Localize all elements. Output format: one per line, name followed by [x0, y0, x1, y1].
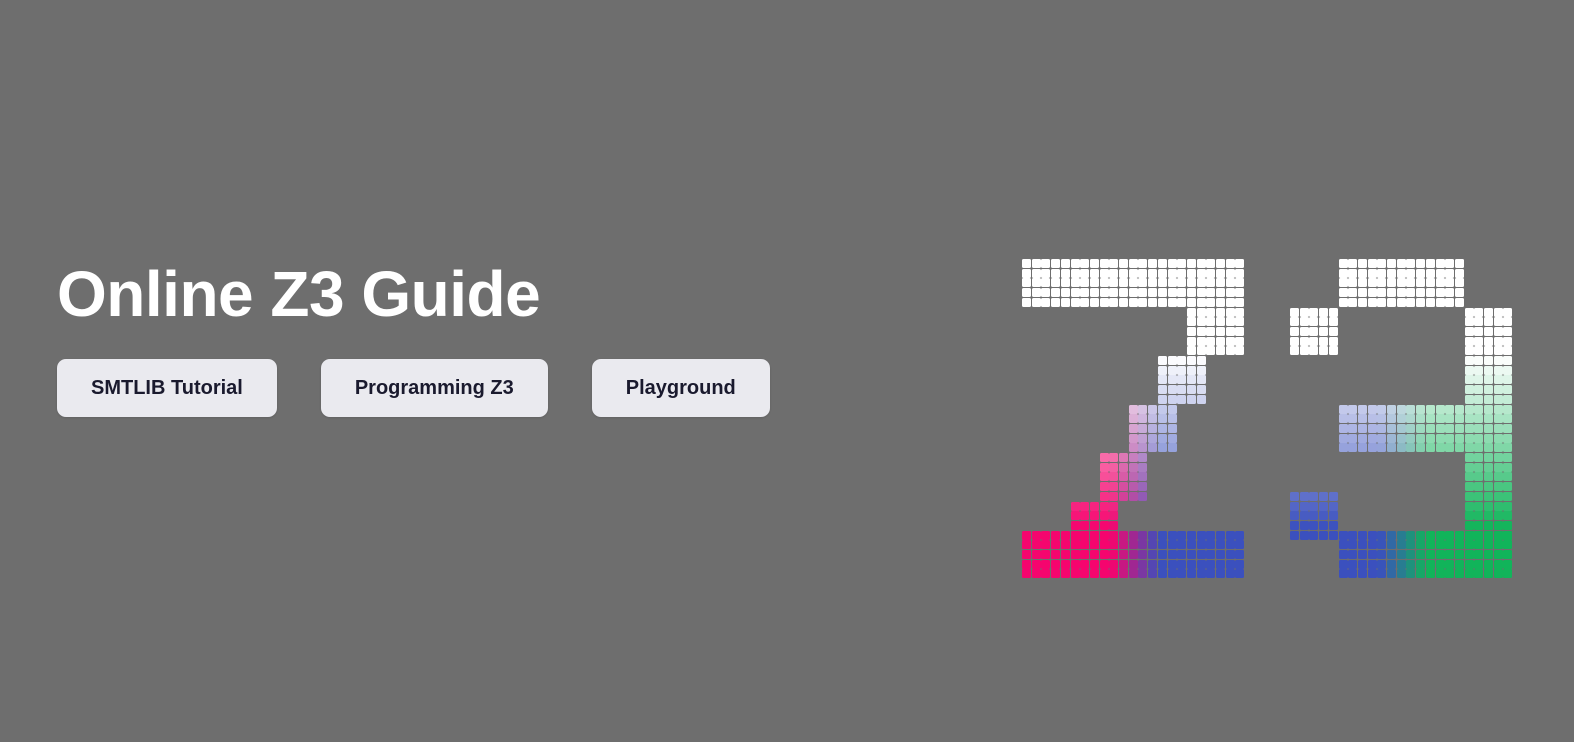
logo-pixel [1187, 278, 1196, 287]
logo-pixel [1416, 424, 1425, 433]
logo-pixel [1119, 560, 1128, 569]
logo-pixel [1455, 259, 1464, 268]
logo-pixel [1158, 569, 1167, 578]
logo-pixel [1484, 482, 1493, 491]
logo-pixel [1387, 259, 1396, 268]
logo-pixel [1309, 346, 1318, 355]
logo-pixel [1406, 531, 1415, 540]
logo-pixel [1216, 269, 1225, 278]
logo-pixel [1109, 259, 1118, 268]
logo-pixel [1290, 492, 1299, 501]
logo-pixel [1071, 521, 1080, 530]
logo-pixel [1290, 337, 1299, 346]
logo-pixel [1187, 308, 1196, 317]
logo-pixel [1465, 356, 1474, 365]
logo-pixel [1187, 259, 1196, 268]
logo-pixel [1080, 569, 1089, 578]
logo-pixel [1168, 375, 1177, 384]
logo-pixel [1484, 521, 1493, 530]
logo-pixel [1494, 424, 1503, 433]
logo-pixel [1168, 356, 1177, 365]
logo-pixel [1436, 550, 1445, 559]
logo-pixel [1494, 366, 1503, 375]
glyph-3-icon [1290, 259, 1514, 584]
logo-pixel [1339, 259, 1348, 268]
logo-pixel [1235, 346, 1244, 355]
logo-pixel [1377, 424, 1386, 433]
logo-pixel [1348, 424, 1357, 433]
logo-pixel [1465, 463, 1474, 472]
logo-pixel [1129, 482, 1138, 491]
logo-pixel [1503, 434, 1512, 443]
logo-pixel [1100, 569, 1109, 578]
logo-pixel [1109, 540, 1118, 549]
logo-pixel [1416, 405, 1425, 414]
logo-pixel [1474, 424, 1483, 433]
logo-pixel [1397, 560, 1406, 569]
logo-pixel [1206, 327, 1215, 336]
logo-pixel [1197, 259, 1206, 268]
logo-pixel [1339, 443, 1348, 452]
logo-pixel [1168, 269, 1177, 278]
logo-pixel [1368, 434, 1377, 443]
logo-pixel [1197, 395, 1206, 404]
logo-pixel [1177, 560, 1186, 569]
logo-pixel [1368, 569, 1377, 578]
logo-pixel [1436, 540, 1445, 549]
logo-pixel [1377, 288, 1386, 297]
logo-pixel [1309, 492, 1318, 501]
logo-pixel [1339, 434, 1348, 443]
logo-pixel [1397, 550, 1406, 559]
logo-pixel [1348, 569, 1357, 578]
logo-pixel [1503, 424, 1512, 433]
logo-pixel [1406, 278, 1415, 287]
logo-pixel [1226, 269, 1235, 278]
logo-pixel [1474, 453, 1483, 462]
logo-pixel [1197, 308, 1206, 317]
logo-pixel [1358, 288, 1367, 297]
logo-pixel [1061, 259, 1070, 268]
logo-pixel [1119, 288, 1128, 297]
logo-pixel [1080, 560, 1089, 569]
logo-pixel [1339, 405, 1348, 414]
logo-pixel [1138, 278, 1147, 287]
logo-pixel [1436, 531, 1445, 540]
logo-pixel [1022, 269, 1031, 278]
logo-pixel [1080, 531, 1089, 540]
logo-pixel [1138, 569, 1147, 578]
logo-pixel [1071, 540, 1080, 549]
logo-pixel [1426, 531, 1435, 540]
logo-pixel [1465, 395, 1474, 404]
logo-pixel [1339, 288, 1348, 297]
logo-pixel [1484, 453, 1493, 462]
logo-pixel [1226, 288, 1235, 297]
logo-pixel [1426, 550, 1435, 559]
logo-pixel [1197, 317, 1206, 326]
logo-pixel [1177, 269, 1186, 278]
logo-pixel [1377, 569, 1386, 578]
logo-pixel [1061, 569, 1070, 578]
logo-pixel [1339, 560, 1348, 569]
logo-pixel [1406, 414, 1415, 423]
logo-pixel [1061, 288, 1070, 297]
logo-pixel [1484, 502, 1493, 511]
logo-pixel [1168, 288, 1177, 297]
logo-pixel [1445, 414, 1454, 423]
logo-pixel [1445, 569, 1454, 578]
logo-pixel [1119, 492, 1128, 501]
logo-pixel [1426, 259, 1435, 268]
logo-pixel [1129, 560, 1138, 569]
logo-pixel [1129, 434, 1138, 443]
logo-pixel [1158, 434, 1167, 443]
logo-pixel [1406, 434, 1415, 443]
logo-pixel [1426, 443, 1435, 452]
logo-pixel [1465, 502, 1474, 511]
logo-pixel [1022, 540, 1031, 549]
logo-pixel [1177, 540, 1186, 549]
logo-pixel [1465, 560, 1474, 569]
logo-pixel [1368, 424, 1377, 433]
logo-pixel [1071, 511, 1080, 520]
logo-pixel [1455, 424, 1464, 433]
logo-pixel [1100, 463, 1109, 472]
logo-pixel [1187, 317, 1196, 326]
logo-pixel [1071, 288, 1080, 297]
logo-pixel [1368, 531, 1377, 540]
logo-pixel [1484, 375, 1493, 384]
logo-pixel [1387, 288, 1396, 297]
logo-pixel [1235, 308, 1244, 317]
logo-pixel [1455, 531, 1464, 540]
logo-pixel [1484, 540, 1493, 549]
logo-pixel [1348, 540, 1357, 549]
logo-pixel [1206, 337, 1215, 346]
logo-pixel [1465, 366, 1474, 375]
logo-pixel [1474, 521, 1483, 530]
logo-pixel [1416, 540, 1425, 549]
logo-pixel [1474, 492, 1483, 501]
logo-pixel [1109, 278, 1118, 287]
logo-pixel [1329, 502, 1338, 511]
logo-pixel [1503, 356, 1512, 365]
logo-pixel [1051, 550, 1060, 559]
logo-pixel [1158, 414, 1167, 423]
logo-pixel [1226, 317, 1235, 326]
logo-pixel [1348, 434, 1357, 443]
logo-pixel [1503, 443, 1512, 452]
logo-pixel [1300, 317, 1309, 326]
logo-pixel [1032, 560, 1041, 569]
logo-pixel [1032, 550, 1041, 559]
logo-pixel [1032, 531, 1041, 540]
logo-pixel [1100, 288, 1109, 297]
logo-pixel [1177, 298, 1186, 307]
logo-pixel [1148, 531, 1157, 540]
logo-pixel [1206, 550, 1215, 559]
logo-pixel [1216, 569, 1225, 578]
logo-pixel [1235, 531, 1244, 540]
logo-pixel [1138, 414, 1147, 423]
logo-pixel [1129, 278, 1138, 287]
logo-pixel [1187, 569, 1196, 578]
logo-pixel [1090, 531, 1099, 540]
logo-pixel [1168, 366, 1177, 375]
logo-pixel [1090, 259, 1099, 268]
logo-pixel [1358, 560, 1367, 569]
logo-pixel [1216, 550, 1225, 559]
logo-pixel [1329, 308, 1338, 317]
logo-pixel [1319, 327, 1328, 336]
logo-pixel [1319, 502, 1328, 511]
logo-pixel [1290, 502, 1299, 511]
logo-pixel [1206, 298, 1215, 307]
logo-pixel [1216, 327, 1225, 336]
logo-pixel [1129, 472, 1138, 481]
logo-pixel [1358, 259, 1367, 268]
logo-pixel [1465, 482, 1474, 491]
logo-pixel [1206, 560, 1215, 569]
logo-pixel [1387, 278, 1396, 287]
logo-pixel [1503, 521, 1512, 530]
smtlib-tutorial-button[interactable]: SMTLIB Tutorial [57, 359, 277, 417]
logo-pixel [1416, 560, 1425, 569]
logo-pixel [1474, 385, 1483, 394]
logo-pixel [1387, 569, 1396, 578]
logo-pixel [1494, 511, 1503, 520]
logo-pixel [1022, 550, 1031, 559]
logo-pixel [1358, 269, 1367, 278]
logo-pixel [1168, 385, 1177, 394]
logo-pixel [1148, 405, 1157, 414]
logo-pixel [1197, 560, 1206, 569]
logo-pixel [1290, 308, 1299, 317]
logo-pixel [1329, 492, 1338, 501]
logo-pixel [1377, 550, 1386, 559]
logo-pixel [1358, 405, 1367, 414]
logo-pixel [1080, 269, 1089, 278]
logo-pixel [1109, 269, 1118, 278]
logo-pixel [1119, 269, 1128, 278]
logo-pixel [1436, 298, 1445, 307]
logo-pixel [1051, 569, 1060, 578]
logo-pixel [1100, 560, 1109, 569]
logo-pixel [1397, 259, 1406, 268]
logo-pixel [1300, 308, 1309, 317]
logo-pixel [1348, 298, 1357, 307]
page-title: Online Z3 Guide [57, 258, 957, 332]
logo-pixel [1187, 298, 1196, 307]
logo-pixel [1177, 375, 1186, 384]
nav-button-group: SMTLIB Tutorial Programming Z3 Playgroun… [57, 359, 957, 417]
logo-pixel [1329, 346, 1338, 355]
logo-pixel [1494, 569, 1503, 578]
logo-pixel [1484, 337, 1493, 346]
logo-pixel [1484, 569, 1493, 578]
logo-pixel [1494, 395, 1503, 404]
logo-pixel [1503, 540, 1512, 549]
logo-pixel [1465, 434, 1474, 443]
logo-pixel [1426, 298, 1435, 307]
logo-pixel [1129, 288, 1138, 297]
logo-pixel [1290, 511, 1299, 520]
logo-pixel [1216, 531, 1225, 540]
logo-pixel [1484, 346, 1493, 355]
logo-pixel [1129, 569, 1138, 578]
logo-pixel [1397, 569, 1406, 578]
programming-z3-button[interactable]: Programming Z3 [321, 359, 548, 417]
logo-pixel [1484, 443, 1493, 452]
logo-pixel [1503, 414, 1512, 423]
logo-pixel [1387, 424, 1396, 433]
logo-pixel [1226, 550, 1235, 559]
logo-pixel [1329, 327, 1338, 336]
logo-pixel [1436, 424, 1445, 433]
logo-pixel [1051, 278, 1060, 287]
logo-pixel [1235, 269, 1244, 278]
logo-pixel [1484, 317, 1493, 326]
logo-pixel [1061, 278, 1070, 287]
logo-pixel [1368, 259, 1377, 268]
logo-pixel [1484, 327, 1493, 336]
logo-pixel [1368, 405, 1377, 414]
logo-pixel [1465, 521, 1474, 530]
logo-pixel [1494, 443, 1503, 452]
logo-pixel [1032, 288, 1041, 297]
logo-pixel [1455, 414, 1464, 423]
logo-pixel [1387, 434, 1396, 443]
logo-pixel [1494, 540, 1503, 549]
logo-pixel [1168, 405, 1177, 414]
logo-pixel [1348, 405, 1357, 414]
logo-pixel [1100, 269, 1109, 278]
logo-pixel [1041, 531, 1050, 540]
logo-pixel [1100, 259, 1109, 268]
logo-pixel [1187, 375, 1196, 384]
logo-pixel [1416, 298, 1425, 307]
logo-pixel [1358, 434, 1367, 443]
logo-pixel [1100, 502, 1109, 511]
logo-pixel [1119, 472, 1128, 481]
logo-pixel [1187, 356, 1196, 365]
logo-pixel [1319, 346, 1328, 355]
logo-pixel [1494, 550, 1503, 559]
logo-pixel [1387, 550, 1396, 559]
logo-pixel [1484, 366, 1493, 375]
logo-pixel [1358, 443, 1367, 452]
logo-pixel [1494, 463, 1503, 472]
logo-pixel [1377, 278, 1386, 287]
logo-pixel [1216, 540, 1225, 549]
logo-pixel [1465, 492, 1474, 501]
logo-pixel [1309, 317, 1318, 326]
logo-pixel [1109, 288, 1118, 297]
logo-pixel [1348, 560, 1357, 569]
logo-pixel [1377, 531, 1386, 540]
logo-pixel [1100, 278, 1109, 287]
logo-pixel [1290, 327, 1299, 336]
logo-pixel [1465, 531, 1474, 540]
logo-pixel [1109, 472, 1118, 481]
logo-pixel [1226, 308, 1235, 317]
logo-pixel [1503, 317, 1512, 326]
logo-pixel [1187, 346, 1196, 355]
logo-pixel [1041, 569, 1050, 578]
logo-pixel [1387, 443, 1396, 452]
logo-pixel [1177, 395, 1186, 404]
logo-pixel [1300, 521, 1309, 530]
logo-pixel [1436, 278, 1445, 287]
logo-pixel [1032, 259, 1041, 268]
logo-pixel [1138, 472, 1147, 481]
logo-pixel [1158, 405, 1167, 414]
logo-pixel [1187, 531, 1196, 540]
logo-pixel [1129, 492, 1138, 501]
logo-pixel [1503, 569, 1512, 578]
logo-pixel [1494, 492, 1503, 501]
logo-pixel [1187, 288, 1196, 297]
logo-pixel [1129, 550, 1138, 559]
logo-pixel [1494, 453, 1503, 462]
logo-pixel [1474, 463, 1483, 472]
logo-pixel [1187, 269, 1196, 278]
logo-pixel [1235, 288, 1244, 297]
logo-pixel [1494, 356, 1503, 365]
logo-pixel [1158, 366, 1167, 375]
logo-pixel [1368, 278, 1377, 287]
logo-pixel [1474, 327, 1483, 336]
logo-pixel [1168, 443, 1177, 452]
logo-pixel [1300, 337, 1309, 346]
logo-pixel [1358, 540, 1367, 549]
logo-pixel [1474, 346, 1483, 355]
logo-pixel [1455, 269, 1464, 278]
logo-pixel [1032, 298, 1041, 307]
logo-pixel [1226, 560, 1235, 569]
playground-button[interactable]: Playground [592, 359, 770, 417]
logo-pixel [1494, 308, 1503, 317]
logo-pixel [1080, 540, 1089, 549]
logo-pixel [1138, 424, 1147, 433]
logo-pixel [1465, 346, 1474, 355]
logo-pixel [1197, 269, 1206, 278]
logo-pixel [1051, 560, 1060, 569]
logo-pixel [1158, 531, 1167, 540]
logo-pixel [1445, 531, 1454, 540]
logo-pixel [1129, 298, 1138, 307]
logo-pixel [1206, 259, 1215, 268]
logo-pixel [1041, 259, 1050, 268]
logo-pixel [1197, 531, 1206, 540]
logo-pixel [1051, 269, 1060, 278]
logo-pixel [1368, 443, 1377, 452]
logo-pixel [1358, 414, 1367, 423]
logo-pixel [1465, 540, 1474, 549]
logo-pixel [1309, 308, 1318, 317]
logo-pixel [1503, 405, 1512, 414]
logo-pixel [1484, 308, 1493, 317]
logo-pixel [1226, 298, 1235, 307]
logo-pixel [1484, 414, 1493, 423]
logo-pixel [1503, 346, 1512, 355]
logo-pixel [1368, 288, 1377, 297]
logo-pixel [1109, 482, 1118, 491]
logo-pixel [1474, 375, 1483, 384]
logo-pixel [1436, 569, 1445, 578]
logo-pixel [1445, 424, 1454, 433]
